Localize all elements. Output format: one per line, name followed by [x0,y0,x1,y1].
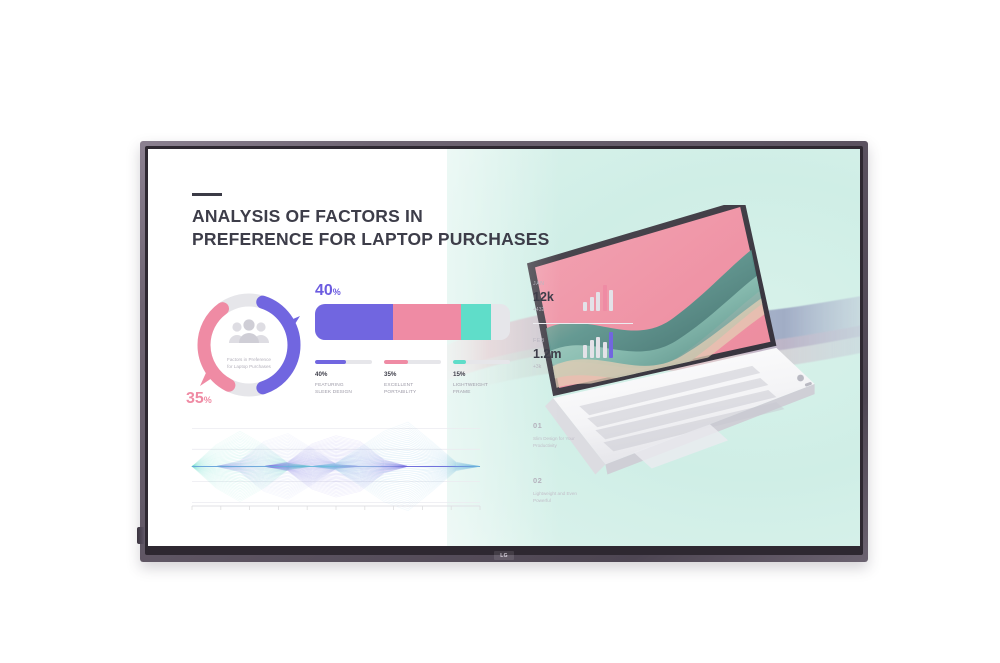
donut-chart-svg [190,286,308,404]
stacked-bar-chart [315,304,510,340]
numbered-feature-list: 01Slim Design for YourProductivity02Ligh… [533,421,628,504]
legend-percent: 15% [453,371,510,378]
legend-item: 40%FEATURINGSLEEK DESIGN [315,360,372,396]
donut-callout-secondary-value: 35 [186,390,204,407]
list-item-index: 02 [533,476,628,485]
page-title: ANALYSIS OF FACTORS IN PREFERENCE FOR LA… [192,205,572,252]
kpi-card: FEB1.2m+3k [533,323,633,380]
legend-label: LIGHTWEIGHTFRAME [453,382,510,396]
presentation-slide: ANALYSIS OF FACTORS IN PREFERENCE FOR LA… [148,149,860,546]
legend-percent: 35% [384,371,441,378]
stacked-bar-segment [315,304,393,340]
donut-chart: Factors in Preference for Laptop Purchas… [190,286,308,404]
list-item: 01Slim Design for YourProductivity [533,421,628,450]
monitor-side-nub [137,527,144,544]
legend-progress-bar [315,360,372,364]
list-item-index: 01 [533,421,628,430]
title-line-1: ANALYSIS OF FACTORS IN [192,205,572,228]
stacked-bar-segment [491,304,511,340]
legend-progress-bar [453,360,510,364]
donut-caption-line-2: for Laptop Purchases [206,363,292,370]
stacked-bar-legend: 40%FEATURINGSLEEK DESIGN35%EXCELLENTPORT… [315,360,510,396]
legend-item: 15%LIGHTWEIGHTFRAME [453,360,510,396]
donut-callout-primary: 40% [315,282,341,300]
kpi-card: JAN12k+432 [533,277,633,323]
legend-percent: 40% [315,371,372,378]
donut-caption-line-1: Factors in Preference [206,356,292,363]
donut-callout-secondary: 35% [186,390,212,408]
donut-callout-secondary-unit: % [204,395,212,405]
stacked-bar-segment [393,304,461,340]
monitor-screen: ANALYSIS OF FACTORS IN PREFERENCE FOR LA… [148,149,860,546]
legend-label: FEATURINGSLEEK DESIGN [315,382,372,396]
stacked-bar-segment [461,304,490,340]
legend-item: 35%EXCELLENTPORTABILITY [384,360,441,396]
donut-callout-primary-unit: % [333,287,341,297]
waveform-chart-svg [186,417,486,512]
list-item: 02Lightweight and EvenPowerful [533,476,628,505]
title-line-2: PREFERENCE FOR LAPTOP PURCHASES [192,228,572,251]
stacked-bar-block: 40%FEATURINGSLEEK DESIGN35%EXCELLENTPORT… [315,304,510,396]
brand-logo: LG [494,551,514,560]
slide-content-left: ANALYSIS OF FACTORS IN PREFERENCE FOR LA… [148,149,575,546]
donut-center-caption: Factors in Preference for Laptop Purchas… [206,356,292,370]
kpi-sparkline [583,332,613,358]
legend-label: EXCELLENTPORTABILITY [384,382,441,396]
monitor-device: LG [140,141,868,562]
legend-progress-bar [384,360,441,364]
waveform-chart [186,417,486,512]
kpi-delta: +3k [533,364,633,370]
kpi-column: JAN12k+432FEB1.2m+3k [533,277,633,380]
donut-callout-primary-value: 40 [315,282,333,299]
list-item-text: Slim Design for YourProductivity [533,435,628,450]
people-icon [226,319,272,343]
kpi-sparkline [583,285,613,311]
list-item-text: Lightweight and EvenPowerful [533,490,628,505]
title-accent-rule [192,193,222,196]
